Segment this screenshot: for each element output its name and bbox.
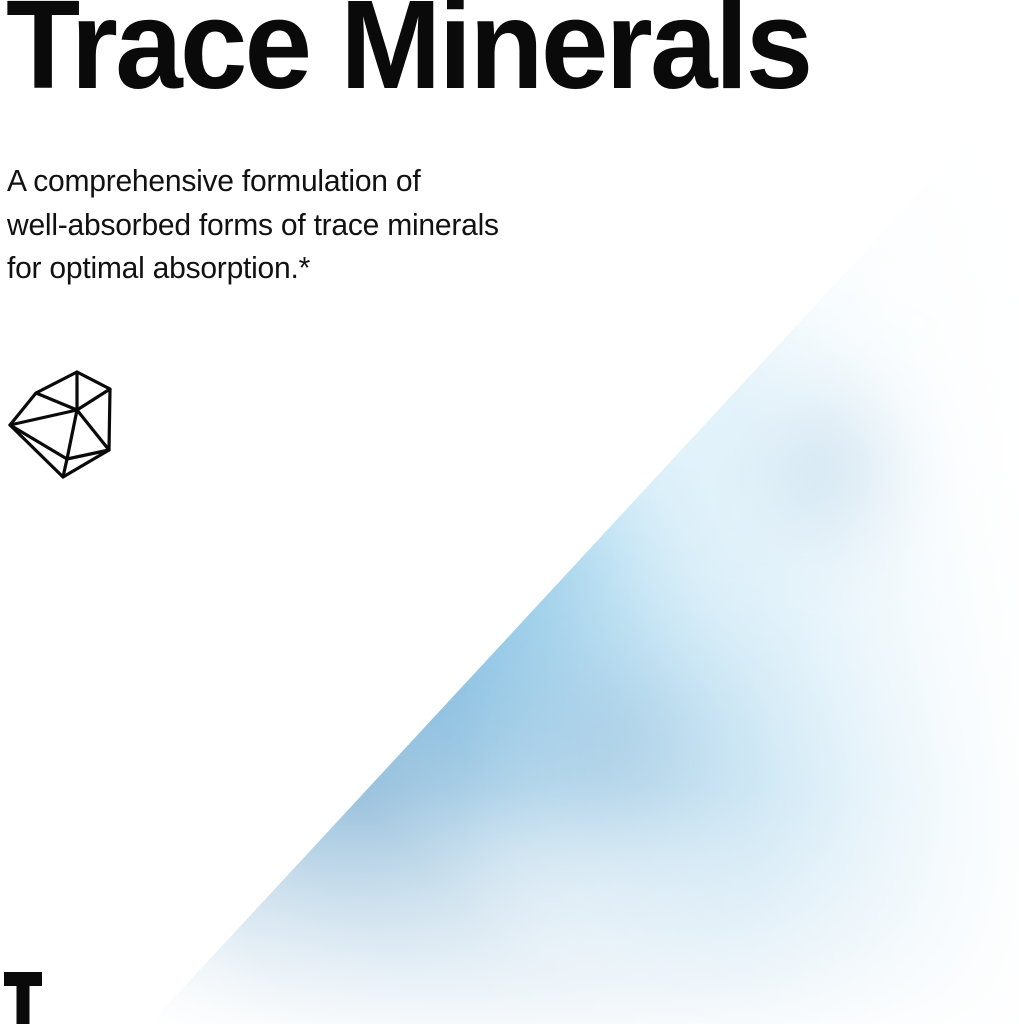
- product-hero-canvas: Trace Minerals A comprehensive formulati…: [0, 0, 1019, 1024]
- product-description: A comprehensive formulation of well-abso…: [7, 160, 499, 291]
- blue-diagonal-gradient-artwork: [0, 0, 1019, 1024]
- brand-logo-t: [4, 972, 48, 1024]
- page-title: Trace Minerals: [6, 0, 810, 108]
- mineral-crystal-icon: [5, 362, 117, 482]
